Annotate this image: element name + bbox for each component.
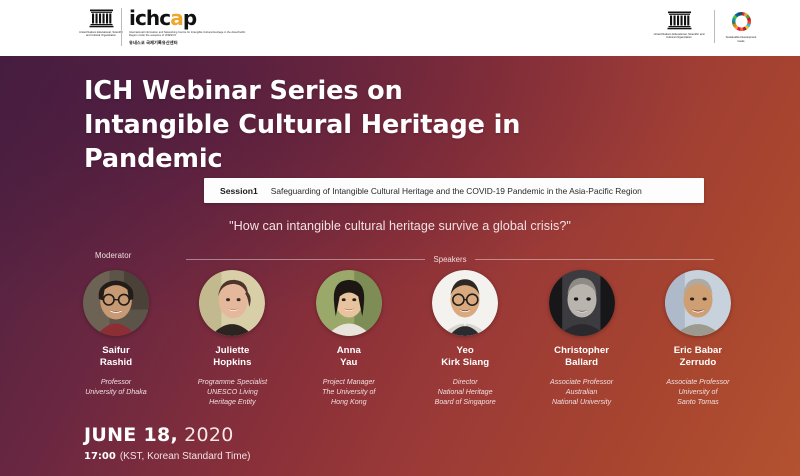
partner-logos: United Nations Educational, Scientific a… [651, 10, 760, 43]
unesco-temple-icon [89, 8, 114, 29]
person-name-line1: Juliette [213, 345, 251, 357]
person-name-line2: Kirk Siang [441, 357, 489, 369]
event-timezone: (KST, Korean Standard Time) [120, 451, 251, 462]
sdg-wheel-icon [730, 10, 753, 33]
person-card: Eric Babar Zerrudo Associate Professor U… [644, 270, 752, 407]
session-number: Session1 [220, 186, 258, 196]
person-card: Christopher Ballard Associate Professor … [528, 270, 636, 407]
portrait-eric-babar-zerrudo [665, 270, 731, 336]
person-role: Programme Specialist [198, 377, 267, 387]
ichcap-wordmark-accent: a [170, 6, 183, 30]
moderator-section-label: Moderator [95, 251, 131, 263]
logo-divider [121, 8, 122, 46]
event-year: 2020 [184, 424, 234, 446]
person-org-line2: Board of Singapore [435, 397, 496, 407]
person-org-line1: UNESCO Living [207, 387, 258, 397]
avatar [316, 270, 382, 336]
avatar [199, 270, 265, 336]
session-banner: Session1 Safeguarding of Intangible Cult… [204, 178, 704, 203]
ichcap-korean-name: 유네스코 국제기록유산센터 [129, 40, 247, 46]
person-org-line1: University of Dhaka [85, 387, 147, 397]
speakers-label: Speakers [434, 255, 467, 264]
person-card: Yeo Kirk Siang Director National Heritag… [411, 270, 519, 407]
person-role: Project Manager [323, 377, 375, 387]
portrait-juliette-hopkins [199, 270, 265, 336]
tagline: "How can intangible cultural heritage su… [0, 219, 800, 233]
person-card: Saifur Rashid Professor University of Dh… [62, 270, 170, 397]
person-name-line1: Eric Babar [674, 345, 723, 357]
person-role: Associate Professor [550, 377, 613, 387]
person-name-line2: Yau [337, 357, 361, 369]
person-name: Anna Yau [337, 345, 361, 370]
person-name-line2: Zerrudo [674, 357, 723, 369]
ichcap-wordmark-part1: ichc [129, 6, 170, 30]
person-org-line1: The University of [322, 387, 375, 397]
unesco-caption-left: United Nations Educational, Scientific a… [78, 31, 124, 37]
webinar-poster: United Nations Educational, Scientific a… [0, 0, 800, 476]
person-name-line2: Rashid [100, 357, 132, 369]
person-role: Associate Professor [666, 377, 729, 387]
session-title: Safeguarding of Intangible Cultural Heri… [271, 186, 642, 196]
person-name: Juliette Hopkins [213, 345, 251, 370]
speakers-rule-left [186, 259, 425, 260]
person-name: Saifur Rashid [100, 345, 132, 370]
title-line-3: Pandemic [84, 143, 704, 177]
person-org-line1: National Heritage [438, 387, 493, 397]
title-line-2: Intangible Cultural Heritage in [84, 109, 704, 143]
sdg-caption: Sustainable Development Goals [722, 36, 760, 43]
title-line-1: ICH Webinar Series on [84, 75, 704, 109]
person-org-line2: Heritage Entity [209, 397, 256, 407]
portrait-saifur-rashid [83, 270, 149, 336]
event-date: JUNE 18, [84, 424, 178, 446]
person-card: Anna Yau Project Manager The University … [295, 270, 403, 407]
avatar [83, 270, 149, 336]
speakers-rule-right [475, 259, 714, 260]
person-org-line2: Hong Kong [331, 397, 367, 407]
event-time: 17:00 [84, 451, 116, 462]
ichcap-wordmark-part2: p [183, 6, 196, 30]
person-name: Yeo Kirk Siang [441, 345, 489, 370]
poster-header: United Nations Educational, Scientific a… [0, 0, 800, 56]
person-org-line1: Australian [566, 387, 598, 397]
unesco-caption-right: United Nations Educational, Scientific a… [651, 33, 707, 40]
ichcap-subtitle: International Information and Networking… [129, 31, 247, 38]
avatar [432, 270, 498, 336]
poster-body: ICH Webinar Series on Intangible Cultura… [0, 56, 800, 476]
unesco-emblem-icon: United Nations Educational, Scientific a… [88, 8, 114, 38]
ichcap-logo: United Nations Educational, Scientific a… [88, 8, 247, 46]
portrait-christopher-ballard [549, 270, 615, 336]
person-name-line1: Christopher [554, 345, 609, 357]
ichcap-wordmark: ichcap [129, 8, 247, 28]
portrait-anna-yau [316, 270, 382, 336]
person-org-line1: University of [678, 387, 717, 397]
avatar [549, 270, 615, 336]
avatar [665, 270, 731, 336]
unesco-temple-right-icon [667, 10, 692, 31]
person-name-line1: Anna [337, 345, 361, 357]
person-name-line2: Hopkins [213, 357, 251, 369]
person-org-line2: Santo Tomas [677, 397, 719, 407]
person-card: Juliette Hopkins Programme Specialist UN… [178, 270, 286, 407]
person-name-line1: Yeo [441, 345, 489, 357]
partner-logo-divider [714, 10, 715, 43]
event-datetime: JUNE 18, 2020 17:00 (KST, Korean Standar… [84, 424, 250, 462]
person-name-line2: Ballard [554, 357, 609, 369]
people-row: Saifur Rashid Professor University of Dh… [62, 270, 752, 407]
person-role: Professor [101, 377, 131, 387]
person-org-line2: National University [552, 397, 611, 407]
unesco-emblem-right-icon: United Nations Educational, Scientific a… [651, 10, 707, 40]
person-role: Director [453, 377, 478, 387]
moderator-label: Moderator [95, 251, 131, 260]
person-name: Eric Babar Zerrudo [674, 345, 723, 370]
person-name: Christopher Ballard [554, 345, 609, 370]
page-title: ICH Webinar Series on Intangible Cultura… [84, 75, 704, 177]
speakers-section-label: Speakers [186, 255, 714, 264]
portrait-yeo-kirk-siang [432, 270, 498, 336]
person-name-line1: Saifur [100, 345, 132, 357]
